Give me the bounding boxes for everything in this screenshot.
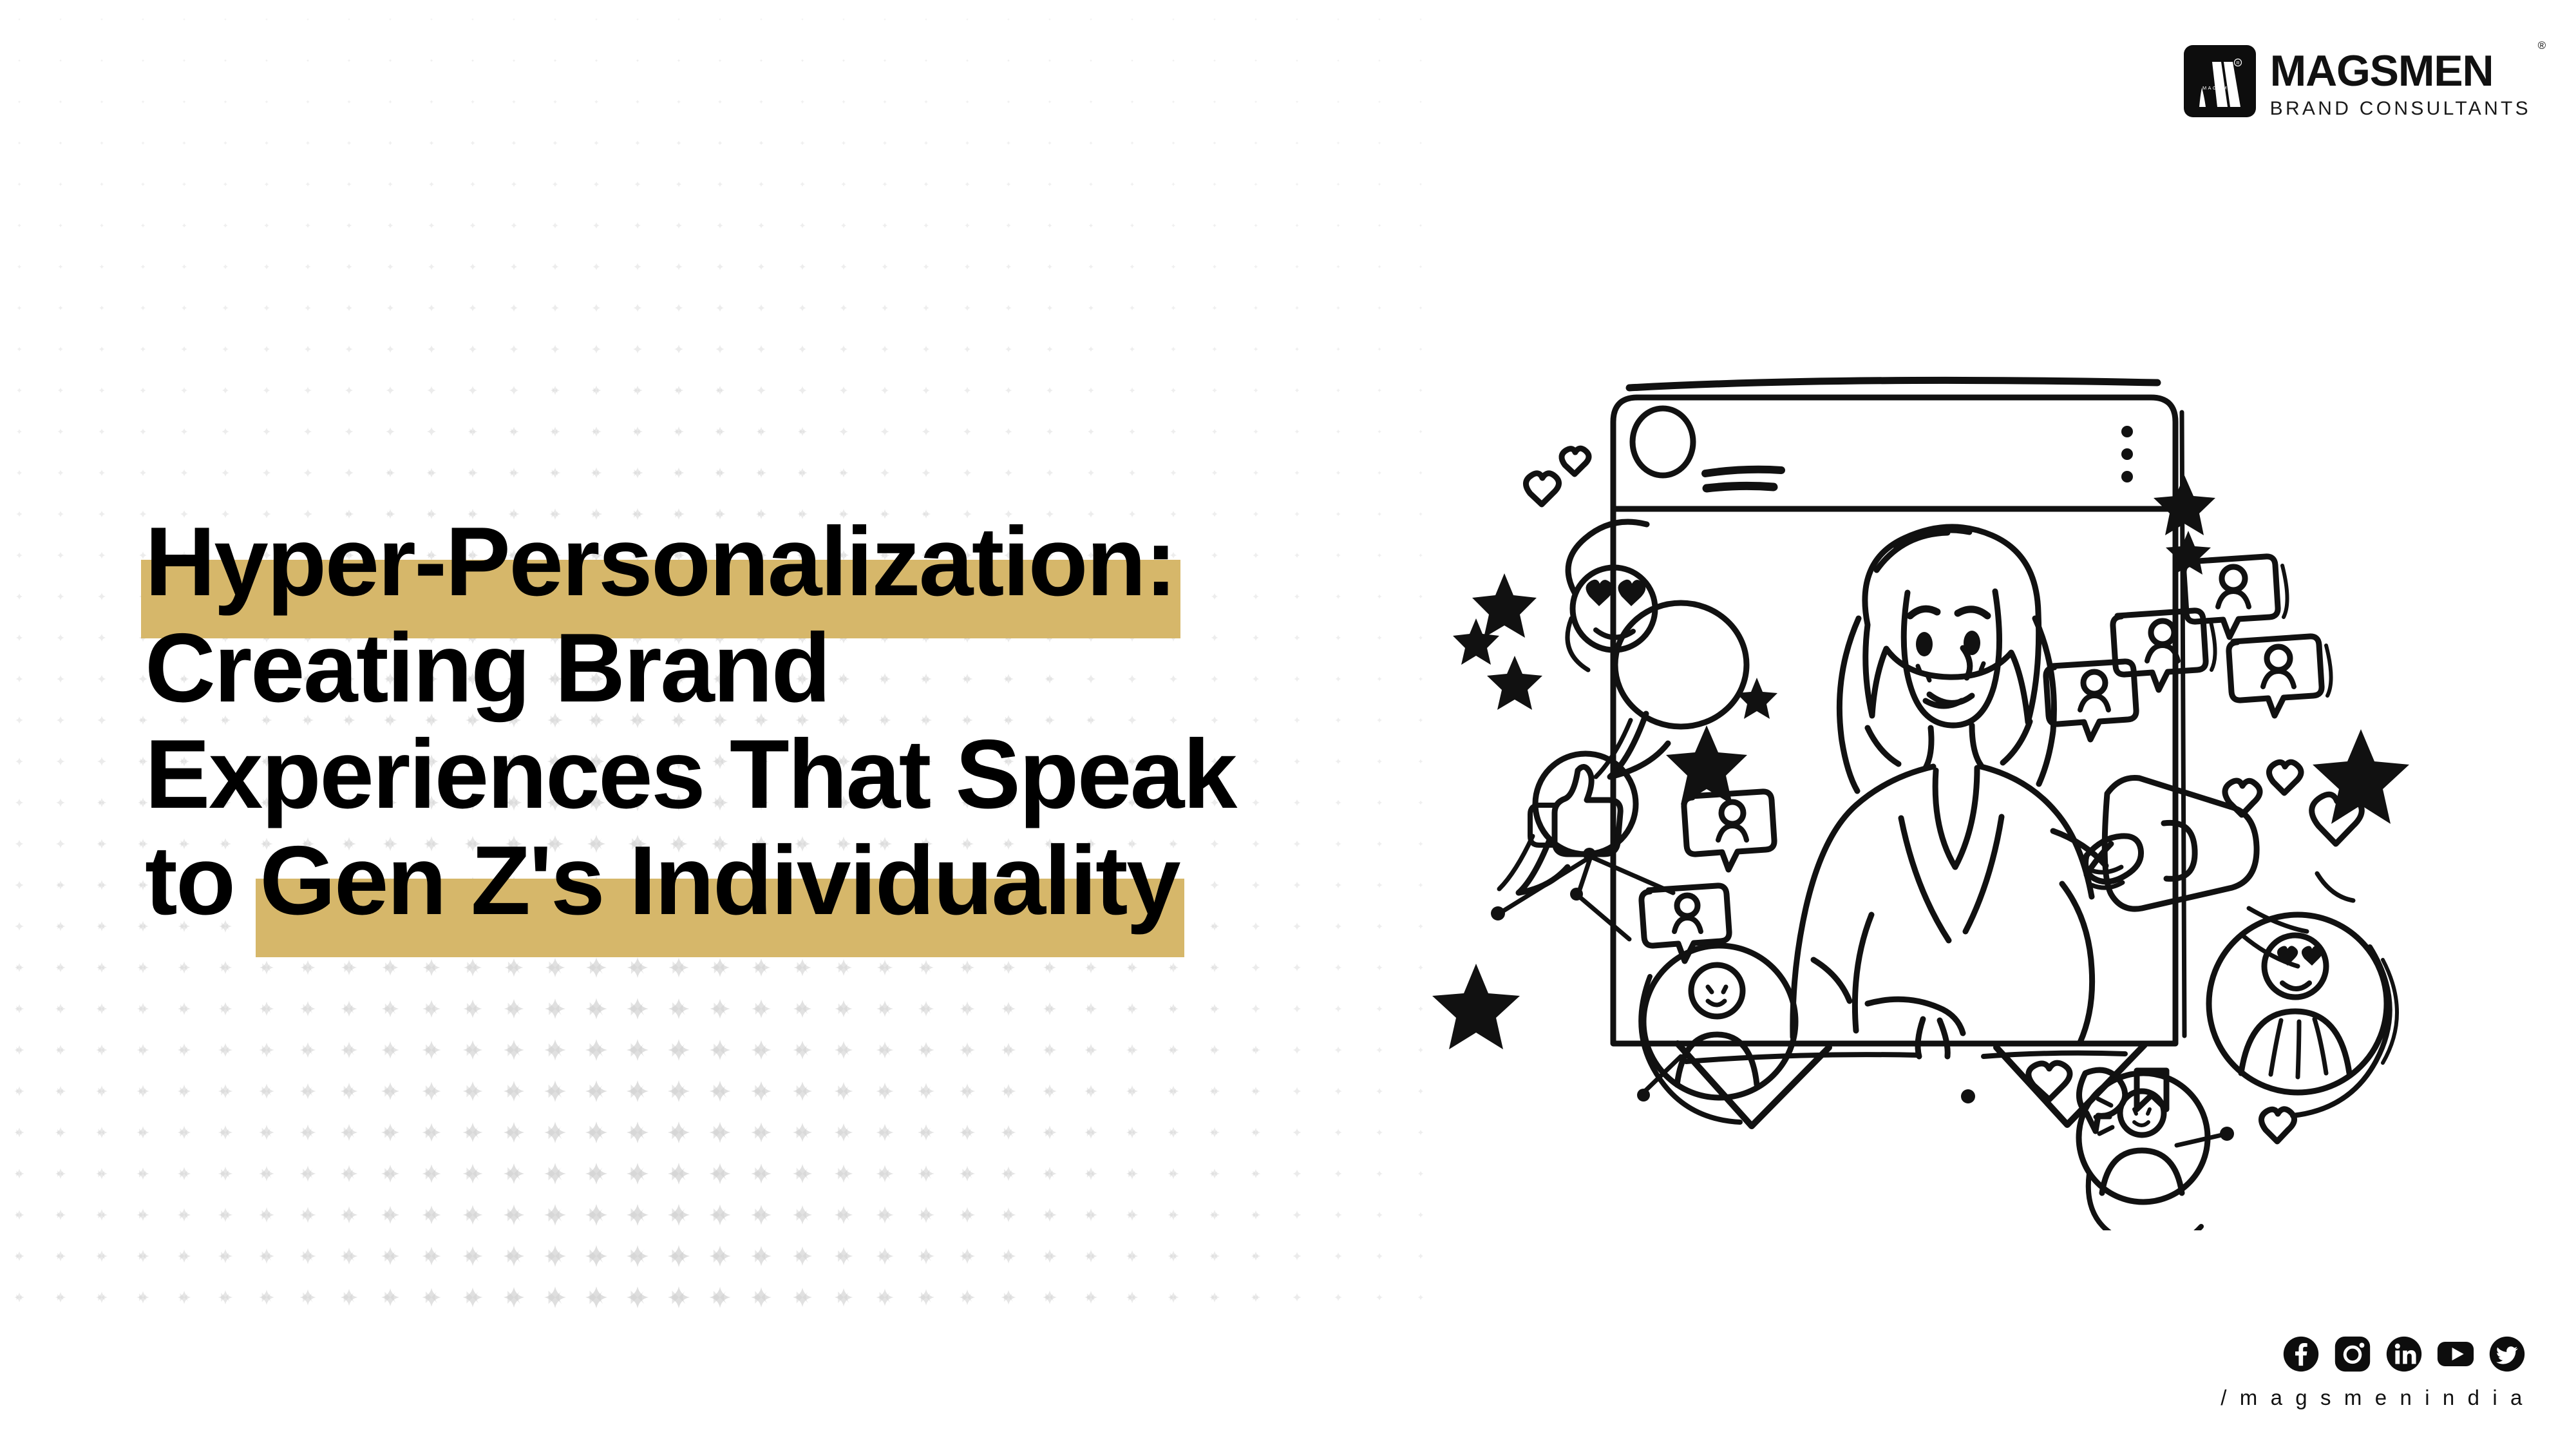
linkedin-icon[interactable] xyxy=(2385,1335,2423,1373)
headline-text-3: Experiences That Speak xyxy=(145,720,1236,829)
headline-line-3: Experiences That Speak xyxy=(145,721,1433,828)
follower-card-5 xyxy=(1684,792,1774,870)
heart-small-5 xyxy=(2261,1109,2294,1141)
shirt-fold-3 xyxy=(1855,915,1871,1031)
avatar-right-smile xyxy=(2282,983,2309,989)
heart-icon xyxy=(2029,1063,2070,1100)
heart-small-2 xyxy=(1562,448,1589,474)
arm-lower-right xyxy=(2062,884,2092,1042)
post-avatar-circle xyxy=(1633,408,1693,475)
headline-highlight-1: Hyper-Personalization: xyxy=(145,509,1175,615)
social-icon-row xyxy=(2221,1335,2526,1373)
brand-name-text: MAGSMEN xyxy=(2270,46,2494,95)
brand-logo: R MAGSMEN MAGSMEN ® BRAND CONSULTANTS xyxy=(2184,45,2531,120)
registered-trademark-icon: ® xyxy=(2538,40,2545,51)
poster-canvas: R MAGSMEN MAGSMEN ® BRAND CONSULTANTS Hy… xyxy=(0,0,2576,1450)
magsmen-logo-mark: R MAGSMEN xyxy=(2184,45,2256,117)
nose xyxy=(1963,648,1970,678)
hair-left-strand xyxy=(1839,618,1859,791)
youtube-icon[interactable] xyxy=(2437,1335,2474,1373)
eyebrow-left xyxy=(1910,609,1937,616)
torso-left xyxy=(1793,767,1933,1037)
eye-left xyxy=(1916,632,1933,656)
love-speech-bubble xyxy=(1610,603,1747,777)
megaphone-inner xyxy=(2164,823,2195,879)
hair-line-4 xyxy=(2003,721,2030,763)
influencer-doodle-illustration xyxy=(1417,316,2537,1230)
follower-card-3 xyxy=(2229,636,2331,716)
headline-line-4: to Gen Z's Individuality xyxy=(145,828,1433,934)
headline-line-1: Hyper-Personalization: xyxy=(145,509,1433,615)
headline-text-4-prefix: to xyxy=(145,826,260,935)
facebook-icon[interactable] xyxy=(2282,1335,2320,1373)
headline-text-2: Creating Brand xyxy=(145,613,829,723)
handle-underline-2 xyxy=(1707,486,1774,488)
heart-big-1-shadow xyxy=(2317,873,2353,901)
connector-bottom-right xyxy=(2177,1135,2222,1145)
freckles-right xyxy=(1981,663,1984,670)
three-dots-menu-icon xyxy=(2121,426,2133,482)
mouth xyxy=(1929,694,1972,703)
eyebrow-right xyxy=(1958,609,1987,616)
avatar-bubble-right xyxy=(2209,915,2397,1116)
handle-underline-1 xyxy=(1705,470,1781,473)
avatar-bubble-left xyxy=(1641,946,1795,1122)
page-title: Hyper-Personalization: Creating Brand Ex… xyxy=(145,509,1433,934)
connector-dot xyxy=(1491,906,1505,921)
waist-tie xyxy=(1868,999,1963,1033)
hair-line-3 xyxy=(1868,728,1899,764)
headline-highlight-2: Gen Z's Individuality xyxy=(260,828,1179,934)
post-frame-top-sketch xyxy=(1629,380,2157,388)
follower-card-6 xyxy=(1642,886,1729,961)
megaphone-icon xyxy=(2105,778,2257,910)
post-caption-line-2 xyxy=(1984,1053,2125,1056)
neck-right xyxy=(1972,725,1981,765)
sleeve-left xyxy=(1814,960,1850,1001)
social-handle-text: / m a g s m e n i n d i a xyxy=(2221,1386,2526,1410)
tie-strand-2 xyxy=(1940,1020,1947,1056)
svg-text:MAGSMEN: MAGSMEN xyxy=(2202,85,2238,91)
brand-tagline: BRAND CONSULTANTS xyxy=(2270,98,2531,120)
logo-wordmark: MAGSMEN ® BRAND CONSULTANTS xyxy=(2270,45,2531,120)
social-footer: / m a g s m e n i n d i a xyxy=(2221,1335,2526,1410)
post-caption-line-1 xyxy=(1686,1054,1918,1062)
heart-small-4 xyxy=(2269,762,2301,793)
instagram-icon[interactable] xyxy=(2334,1335,2371,1373)
avatar-bubble-bottom xyxy=(2079,1073,2208,1230)
svg-text:R: R xyxy=(2236,61,2239,66)
brand-name: MAGSMEN ® xyxy=(2270,49,2531,93)
heart-small-1 xyxy=(1526,473,1558,504)
headline-line-2: Creating Brand xyxy=(145,615,1433,721)
neckline-v xyxy=(1935,768,1977,867)
neck-left xyxy=(1926,728,1931,768)
twitter-icon[interactable] xyxy=(2488,1335,2526,1373)
tie-strand-1 xyxy=(1918,1019,1923,1056)
